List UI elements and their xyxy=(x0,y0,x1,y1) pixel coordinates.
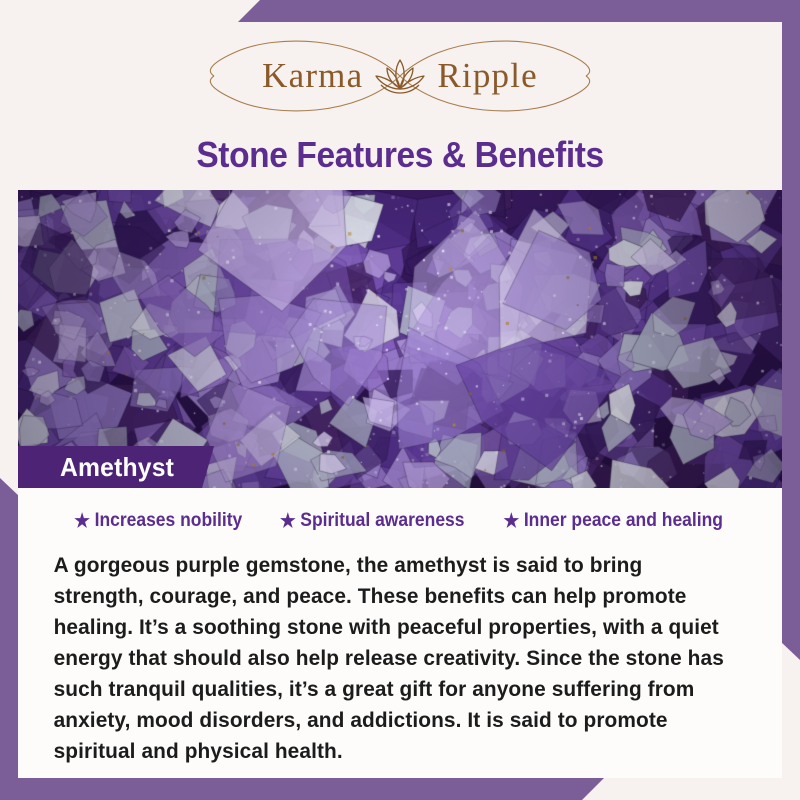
benefit-item-1: ★ Increases nobility xyxy=(75,510,243,532)
brand-word-right: Ripple xyxy=(437,56,538,96)
benefits-list: ★ Increases nobility ★ Spiritual awarene… xyxy=(40,510,760,546)
benefit-label: Increases nobility xyxy=(95,510,243,532)
stone-name-banner: Amethyst xyxy=(18,446,214,488)
star-icon: ★ xyxy=(280,512,296,531)
brand-header: Karma Ripple xyxy=(18,22,782,130)
stone-description: A gorgeous purple gemstone, the amethyst… xyxy=(40,546,738,767)
stone-photo: Amethyst xyxy=(18,190,782,488)
star-icon: ★ xyxy=(504,512,520,531)
brand-logo-inner: Karma Ripple xyxy=(262,55,538,97)
benefit-item-3: ★ Inner peace and healing xyxy=(504,510,723,532)
stone-name-label: Amethyst xyxy=(60,452,174,483)
brand-word-left: Karma xyxy=(262,56,363,96)
brand-logo: Karma Ripple xyxy=(180,33,620,119)
poster-page: Karma Ripple xyxy=(0,0,800,800)
description-panel: ★ Increases nobility ★ Spiritual awarene… xyxy=(18,488,782,778)
benefit-label: Spiritual awareness xyxy=(300,510,464,532)
benefit-item-2: ★ Spiritual awareness xyxy=(280,510,464,532)
title-bar: Stone Features & Benefits xyxy=(18,130,782,190)
lotus-icon xyxy=(371,55,429,97)
benefit-label: Inner peace and healing xyxy=(524,510,723,532)
content-card: Karma Ripple xyxy=(18,22,782,778)
star-icon: ★ xyxy=(75,512,91,531)
amethyst-crystal-image xyxy=(18,190,782,488)
page-title: Stone Features & Benefits xyxy=(196,134,603,176)
